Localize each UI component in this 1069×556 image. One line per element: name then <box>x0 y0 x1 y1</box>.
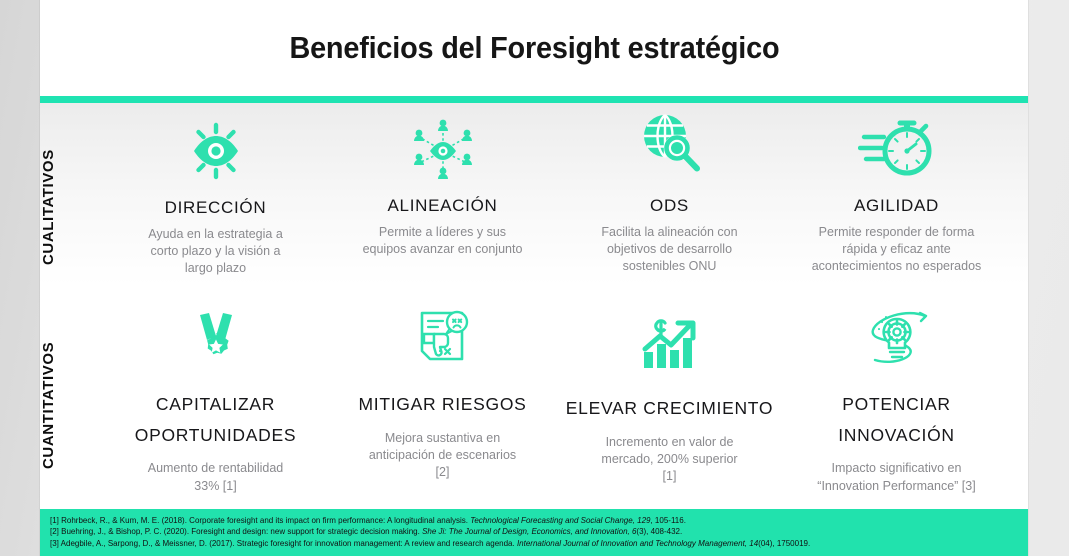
citation-2: [2] Buehring, J., & Bishop, P. C. (2020)… <box>50 526 1028 537</box>
slide-card: Beneficios del Foresight estratégico CUA… <box>40 0 1028 556</box>
benefit-item-direccion[interactable]: DIRECCIÓN Ayuda en la estrategia a corto… <box>102 103 329 293</box>
benefit-item-potenciar-innovacion[interactable]: POTENCIAR INNOVACIÓN Impacto significati… <box>783 293 1010 508</box>
globe-magnifier-icon <box>635 107 705 179</box>
citation-pages: (04), 1750019. <box>758 539 810 548</box>
page-title: Beneficios del Foresight estratégico <box>289 30 779 66</box>
benefit-item-ods[interactable]: ODS Facilita la alineación con objetivos… <box>556 103 783 293</box>
header: Beneficios del Foresight estratégico <box>40 0 1028 96</box>
citation-text: [3] Adegbile, A., Sarpong, D., & Meissne… <box>50 539 517 548</box>
benefit-title: AGILIDAD <box>854 197 939 215</box>
benefit-title: ALINEACIÓN <box>388 197 498 215</box>
content-area: CUALITATIVOS CUANTITATIVOS <box>40 103 1028 509</box>
benefit-item-alineacion[interactable]: ALINEACIÓN Permite a líderes y sus equip… <box>329 103 556 293</box>
citation-journal: Technological Forecasting and Social Cha… <box>470 516 650 525</box>
benefit-description: Facilita la alineación con objetivos de … <box>590 224 750 276</box>
category-labels: CUALITATIVOS CUANTITATIVOS <box>40 103 102 509</box>
benefit-description: Ayuda en la estrategia a corto plazo y l… <box>136 226 296 278</box>
category-label-cuantitativos: CUANTITATIVOS <box>40 303 102 508</box>
lightbulb-gear-icon <box>863 307 931 373</box>
benefit-item-agilidad[interactable]: AGILIDAD Permite responder de forma rápi… <box>783 103 1010 293</box>
citation-text: [2] Buehring, J., & Bishop, P. C. (2020)… <box>50 527 422 536</box>
benefit-title: POTENCIAR INNOVACIÓN <box>789 389 1004 450</box>
thumbs-down-document-icon <box>412 307 474 373</box>
citation-pages: (3), 408-432. <box>636 527 682 536</box>
benefit-title: DIRECCIÓN <box>165 199 267 217</box>
accent-divider <box>40 96 1028 103</box>
infographic-page: Beneficios del Foresight estratégico CUA… <box>0 0 1069 556</box>
benefit-description: Incremento en valor de mercado, 200% sup… <box>595 434 745 486</box>
benefit-item-capitalizar-oportunidades[interactable]: CAPITALIZAR OPORTUNIDADES Aumento de ren… <box>102 293 329 508</box>
category-label-cualitativos: CUALITATIVOS <box>40 113 102 301</box>
benefit-title: MITIGAR RIESGOS <box>358 389 526 420</box>
citation-3: [3] Adegbile, A., Sarpong, D., & Meissne… <box>50 538 1028 549</box>
medal-star-icon <box>187 307 245 373</box>
citation-journal: International Journal of Innovation and … <box>517 539 758 548</box>
eye-sun-icon <box>184 115 248 187</box>
growth-chart-dollar-icon <box>638 311 702 377</box>
citation-journal: She Ji: The Journal of Design, Economics… <box>422 527 636 536</box>
benefit-description: Permite a líderes y sus equipos avanzar … <box>363 224 523 259</box>
citation-1: [1] Rohrbeck, R., & Kum, M. E. (2018). C… <box>50 515 1028 526</box>
benefit-description: Mejora sustantiva en anticipación de esc… <box>368 430 518 482</box>
benefits-grid: DIRECCIÓN Ayuda en la estrategia a corto… <box>102 103 1028 509</box>
benefit-item-elevar-crecimiento[interactable]: ELEVAR CRECIMIENTO Incremento en valor d… <box>556 293 783 508</box>
benefit-description: Permite responder de forma rápida y efic… <box>811 224 983 276</box>
benefit-description: Aumento de rentabilidad 33% [1] <box>141 460 291 495</box>
citation-pages: , 105-116. <box>650 516 685 525</box>
benefit-title: CAPITALIZAR OPORTUNIDADES <box>108 389 323 450</box>
benefit-item-mitigar-riesgos[interactable]: MITIGAR RIESGOS Mejora sustantiva en ant… <box>329 293 556 508</box>
stopwatch-speed-icon <box>858 113 936 185</box>
citation-text: [1] Rohrbeck, R., & Kum, M. E. (2018). C… <box>50 516 470 525</box>
benefit-title: ELEVAR CRECIMIENTO <box>566 393 773 424</box>
benefit-title: ODS <box>650 197 689 215</box>
network-people-eye-icon <box>406 115 480 187</box>
benefit-description: Impacto significativo en “Innovation Per… <box>817 460 977 495</box>
citations-footer: [1] Rohrbeck, R., & Kum, M. E. (2018). C… <box>40 509 1028 556</box>
